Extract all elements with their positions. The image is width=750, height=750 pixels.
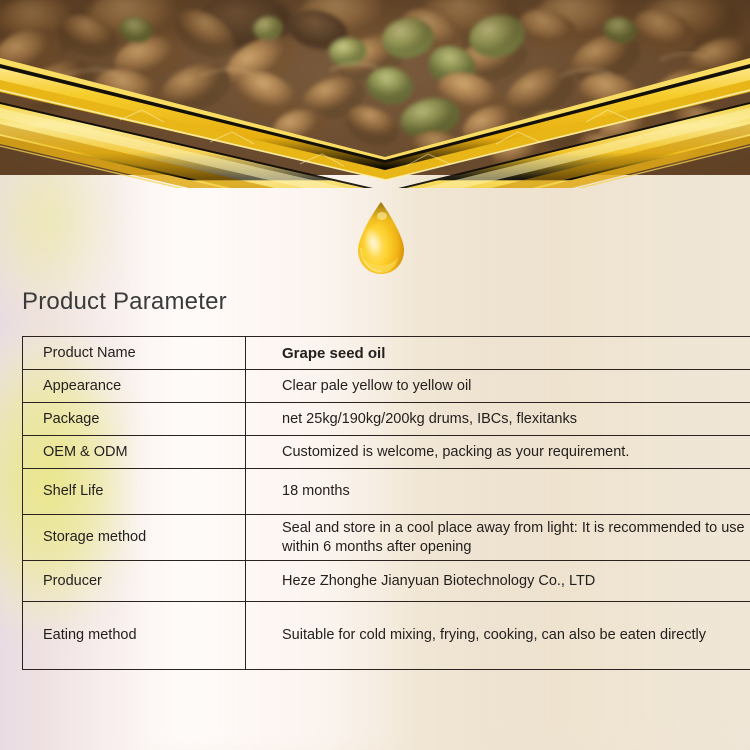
table-row: Producer Heze Zhonghe Jianyuan Biotechno… <box>23 561 750 602</box>
row-label-storage-method: Storage method <box>23 515 246 561</box>
row-label-oem-odm: OEM & ODM <box>23 436 246 469</box>
golden-wave-ribbon <box>0 58 750 188</box>
row-value-shelf-life: 18 months <box>246 469 750 515</box>
row-value-eating-method: Suitable for cold mixing, frying, cookin… <box>246 602 750 670</box>
row-label-eating-method: Eating method <box>23 602 246 670</box>
page-title: Product Parameter <box>22 288 227 316</box>
product-parameter-table: Product Name Grape seed oil Appearance C… <box>22 336 750 670</box>
row-value-appearance: Clear pale yellow to yellow oil <box>246 370 750 403</box>
table-row: Product Name Grape seed oil <box>23 337 750 370</box>
row-value-storage-method: Seal and store in a cool place away from… <box>246 515 750 561</box>
row-label-product-name: Product Name <box>23 337 246 370</box>
row-value-producer: Heze Zhonghe Jianyuan Biotechnology Co.,… <box>246 561 750 602</box>
table-row: Storage method Seal and store in a cool … <box>23 515 750 561</box>
product-parameter-page: Product Parameter Product Name Grape see… <box>0 0 750 750</box>
row-label-shelf-life: Shelf Life <box>23 469 246 515</box>
table-row: OEM & ODM Customized is welcome, packing… <box>23 436 750 469</box>
row-label-producer: Producer <box>23 561 246 602</box>
table-row: Shelf Life 18 months <box>23 469 750 515</box>
oil-drop <box>352 200 410 276</box>
row-value-package: net 25kg/190kg/200kg drums, IBCs, flexit… <box>246 403 750 436</box>
row-value-oem-odm: Customized is welcome, packing as your r… <box>246 436 750 469</box>
table-row: Eating method Suitable for cold mixing, … <box>23 602 750 670</box>
row-value-product-name: Grape seed oil <box>246 337 750 370</box>
row-label-appearance: Appearance <box>23 370 246 403</box>
table-row: Appearance Clear pale yellow to yellow o… <box>23 370 750 403</box>
row-label-package: Package <box>23 403 246 436</box>
table-row: Package net 25kg/190kg/200kg drums, IBCs… <box>23 403 750 436</box>
